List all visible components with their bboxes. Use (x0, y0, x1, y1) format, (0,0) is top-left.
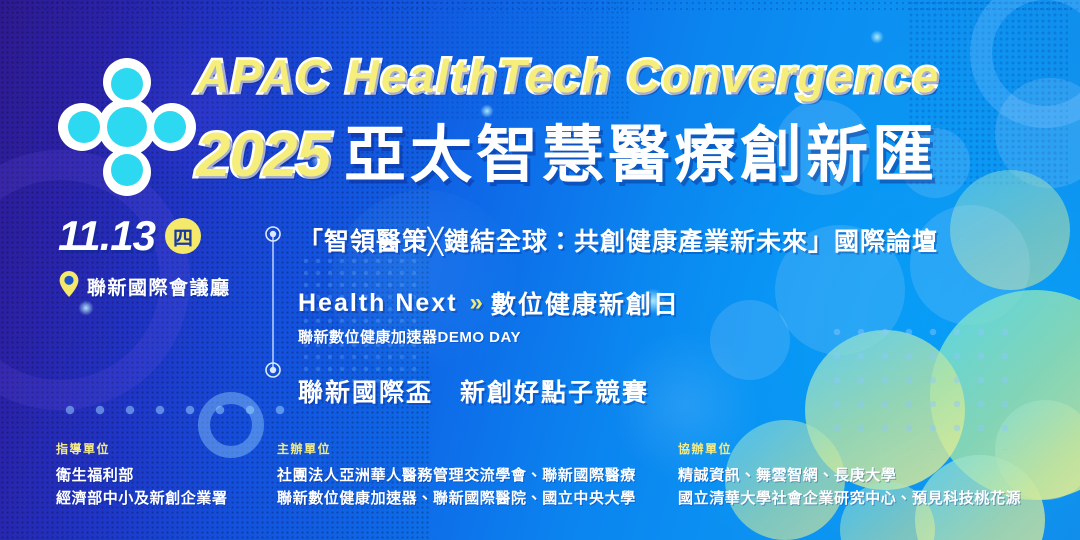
event-date-venue-block: 11.13 四 聯新國際會議廳 (58, 212, 268, 303)
double-chevron-right-icon: » (470, 289, 479, 317)
timeline-connector (262, 222, 284, 382)
title-english: APAC HealthTech Convergence (196, 52, 986, 102)
dot-row-bottom-left-decoration (55, 395, 295, 415)
title-year: 2025 (196, 120, 330, 191)
sponsor-group-coorganizer: 協辦單位 精誠資訊、舞雲智網、長庚大學 國立清華大學社會企業研究中心、預見科技桃… (678, 440, 1078, 511)
weekday-badge: 四 (165, 218, 201, 254)
event-venue-row: 聯新國際會議廳 (58, 270, 268, 303)
sponsor-name: 國立清華大學社會企業研究中心、預見科技桃花源 (678, 487, 1078, 510)
pale-blob-decoration (995, 78, 1080, 188)
sponsor-group-label: 主辦單位 (277, 440, 672, 457)
sponsor-group-label: 指導單位 (56, 440, 271, 457)
ring-top-right-decoration (970, 0, 1080, 128)
sponsor-name: 聯新數位健康加速器、聯新國際醫院、國立中央大學 (277, 487, 672, 510)
sponsor-name: 衛生福利部 (56, 464, 271, 487)
molecule-network-logo-icon (58, 58, 196, 196)
program-items: 「智領醫策╳鏈結全球：共創健康產業新未來」國際論壇 Health Next » … (298, 222, 998, 409)
sponsor-group-guidance: 指導單位 衛生福利部 經濟部中小及新創企業署 (56, 440, 271, 511)
program-item-health-next: Health Next » 數位健康新創日 (298, 285, 998, 321)
sponsor-group-organizer: 主辦單位 社團法人亞洲華人醫務管理交流學會、聯新國際醫療 聯新數位健康加速器、聯… (277, 440, 672, 511)
title-chinese: 亞太智慧醫療創新匯 (344, 104, 938, 194)
event-venue: 聯新國際會議廳 (87, 273, 231, 300)
title-chinese-row: 2025 亞太智慧醫療創新匯 (196, 104, 986, 194)
sparkle-decoration (870, 30, 884, 44)
program-item-health-next-subtitle: 聯新數位健康加速器DEMO DAY (298, 326, 998, 347)
health-next-english: Health Next (298, 289, 458, 318)
health-next-chinese: 數位健康新創日 (491, 285, 680, 321)
poster-title-block: APAC HealthTech Convergence 2025 亞太智慧醫療創… (196, 52, 986, 194)
sponsor-name: 社團法人亞洲華人醫務管理交流學會、聯新國際醫療 (277, 464, 672, 487)
event-date-row: 11.13 四 (58, 212, 268, 260)
event-poster-banner: APAC HealthTech Convergence 2025 亞太智慧醫療創… (0, 0, 1080, 540)
sponsor-group-label: 協辦單位 (678, 440, 1078, 457)
program-item-competition: 聯新國際盃 新創好點子競賽 (298, 373, 998, 409)
sponsors-section: 指導單位 衛生福利部 經濟部中小及新創企業署 主辦單位 社團法人亞洲華人醫務管理… (0, 440, 1080, 540)
program-item-forum-title: 「智領醫策╳鏈結全球：共創健康產業新未來」國際論壇 (298, 222, 998, 258)
event-date: 11.13 (58, 212, 155, 260)
sponsor-name: 精誠資訊、舞雲智網、長庚大學 (678, 464, 1078, 487)
dot-band-top-decoration (0, 0, 1080, 12)
location-pin-icon (58, 270, 80, 303)
sponsor-name: 經濟部中小及新創企業署 (56, 487, 271, 510)
program-section: 「智領醫策╳鏈結全球：共創健康產業新未來」國際論壇 Health Next » … (262, 222, 1002, 392)
